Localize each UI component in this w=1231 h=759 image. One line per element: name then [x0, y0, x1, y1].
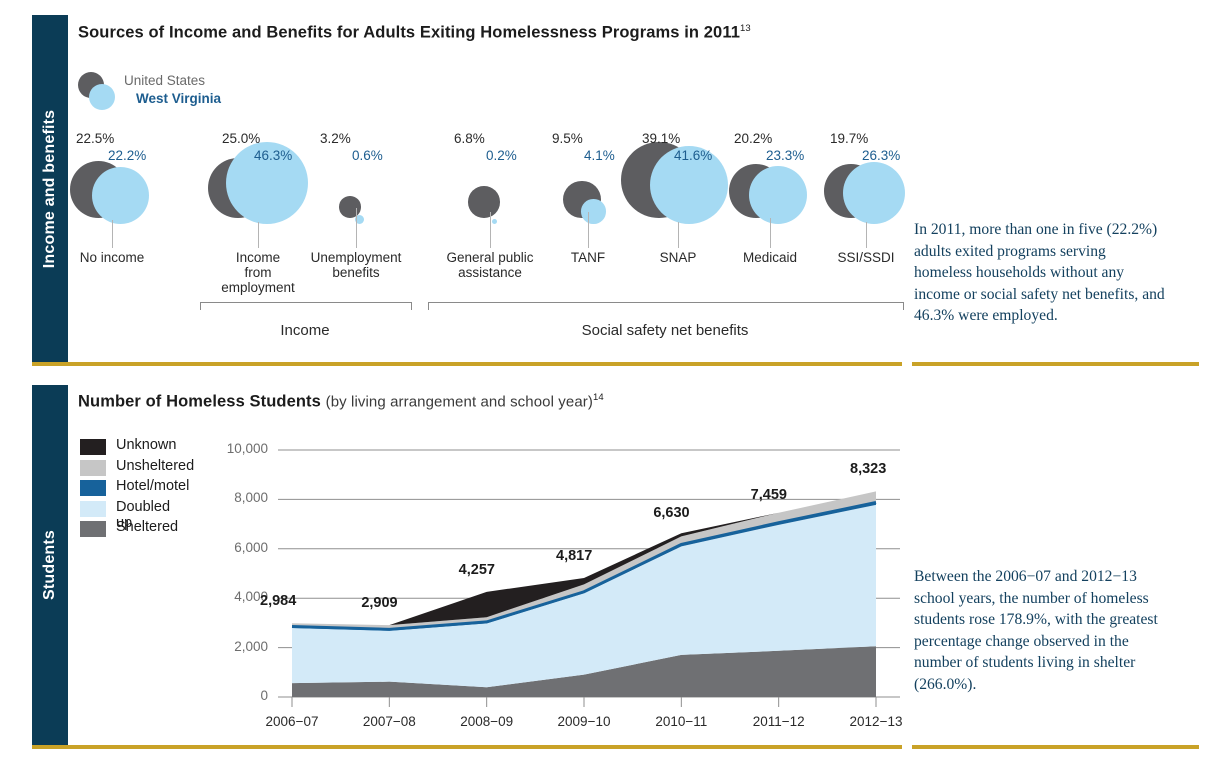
bubble-wv-6	[749, 166, 807, 224]
x-axis-tick-label-6: 2012−13	[826, 714, 926, 729]
area-total-label-0: 2,984	[260, 593, 296, 609]
bubble-category-label-7: SSI/SSDI	[820, 250, 912, 265]
bubble-leader-line-3	[490, 212, 491, 248]
y-axis-tick-label-2: 4,000	[206, 589, 268, 604]
bubble-value-us-3: 6.8%	[454, 131, 485, 146]
bubble-category-label-2: Unemployment benefits	[304, 250, 408, 280]
bubble-category-label-4: TANF	[548, 250, 628, 265]
bubble-wv-4	[581, 199, 606, 224]
bubble-category-label-6: Medicaid	[726, 250, 814, 265]
group-bracket-0	[200, 302, 412, 310]
area-total-label-2: 4,257	[459, 562, 495, 578]
bubble-leader-line-5	[678, 222, 679, 248]
area-total-label-1: 2,909	[361, 595, 397, 611]
divider-rule-bottom-right	[912, 745, 1199, 749]
y-axis-tick-label-1: 2,000	[206, 639, 268, 654]
y-axis-tick-label-4: 8,000	[206, 490, 268, 505]
bubble-leader-line-6	[770, 218, 771, 248]
infographic-page: Income and benefits Sources of Income an…	[0, 0, 1231, 759]
area-total-label-3: 4,817	[556, 548, 592, 564]
bubble-category-label-5: SNAP	[638, 250, 718, 265]
bubble-value-wv-7: 26.3%	[862, 148, 900, 163]
bubble-leader-line-2	[356, 208, 357, 248]
students-side-note: Between the 2006−07 and 2012−13 school y…	[914, 566, 1166, 696]
area-total-label-4: 6,630	[653, 505, 689, 521]
group-bracket-label-0: Income	[165, 322, 445, 339]
bubble-us-3	[468, 186, 500, 218]
bubble-value-wv-2: 0.6%	[352, 148, 383, 163]
bubble-wv-0	[92, 167, 149, 224]
bubble-value-us-0: 22.5%	[76, 131, 114, 146]
bubble-value-wv-6: 23.3%	[766, 148, 804, 163]
y-axis-tick-label-3: 6,000	[206, 540, 268, 555]
divider-rule-top-left	[32, 362, 902, 366]
bubble-value-wv-3: 0.2%	[486, 148, 517, 163]
bubble-value-wv-4: 4.1%	[584, 148, 615, 163]
y-axis-tick-label-5: 10,000	[206, 441, 268, 456]
income-side-note: In 2011, more than one in five (22.2%) a…	[914, 219, 1166, 327]
bubble-wv-7	[843, 162, 905, 224]
bubble-value-us-1: 25.0%	[222, 131, 260, 146]
group-bracket-1	[428, 302, 904, 310]
bubble-category-label-3: General public assistance	[438, 250, 542, 280]
divider-rule-bottom-left	[32, 745, 902, 749]
bubble-value-us-4: 9.5%	[552, 131, 583, 146]
x-axis-tick-label-2: 2008−09	[437, 714, 537, 729]
income-and-benefits-panel: Income and benefits Sources of Income an…	[0, 0, 1231, 372]
bubble-value-us-2: 3.2%	[320, 131, 351, 146]
group-bracket-label-1: Social safety net benefits	[525, 322, 805, 339]
y-axis-tick-label-0: 0	[206, 688, 268, 703]
x-axis-tick-label-1: 2007−08	[339, 714, 439, 729]
area-total-label-6: 8,323	[850, 461, 886, 477]
bubble-category-label-0: No income	[57, 250, 167, 265]
bubble-value-wv-5: 41.6%	[674, 148, 712, 163]
bubble-value-wv-0: 22.2%	[108, 148, 146, 163]
bubble-leader-line-0	[112, 220, 113, 248]
students-panel: Students Number of Homeless Students (by…	[0, 378, 1231, 759]
area-total-label-5: 7,459	[751, 487, 787, 503]
divider-rule-top-right	[912, 362, 1199, 366]
x-axis-tick-label-0: 2006−07	[242, 714, 342, 729]
bubble-value-wv-1: 46.3%	[254, 148, 292, 163]
bubble-value-us-6: 20.2%	[734, 131, 772, 146]
bubble-leader-line-7	[866, 222, 867, 248]
x-axis-tick-label-4: 2010−11	[631, 714, 731, 729]
bubble-category-label-1: Income from employment	[213, 250, 303, 295]
x-axis-tick-label-3: 2009−10	[534, 714, 634, 729]
bubble-leader-line-4	[588, 212, 589, 248]
bubble-value-us-5: 39.1%	[642, 131, 680, 146]
bubble-wv-3	[492, 219, 497, 224]
x-axis-tick-label-5: 2011−12	[729, 714, 829, 729]
bubble-value-us-7: 19.7%	[830, 131, 868, 146]
bubble-leader-line-1	[258, 222, 259, 248]
